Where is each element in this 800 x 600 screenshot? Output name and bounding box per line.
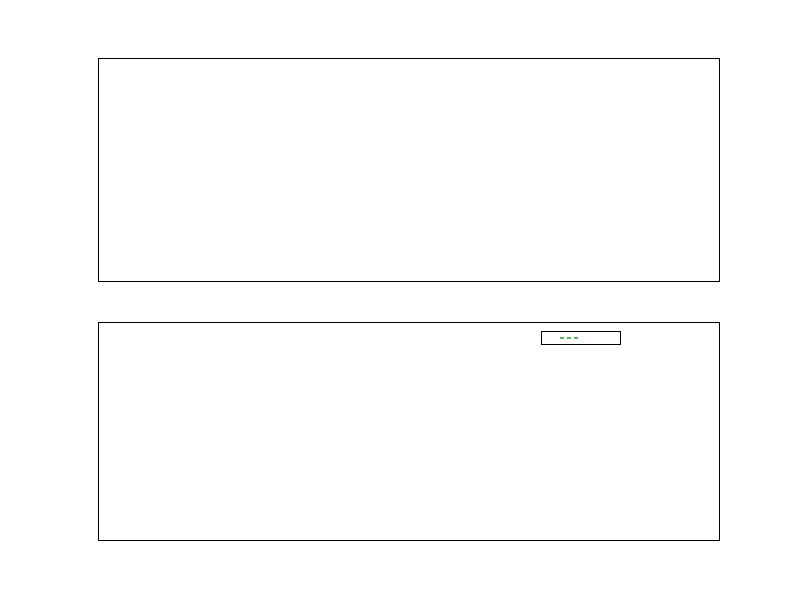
histogram-plot	[99, 59, 719, 281]
legend	[541, 331, 621, 345]
bottom-panel-axes	[98, 322, 720, 541]
figure-canvas	[0, 0, 800, 600]
top-panel-axes	[98, 58, 720, 282]
mag-limit-line-swatch	[549, 337, 591, 339]
cumulative-plot	[99, 323, 719, 540]
